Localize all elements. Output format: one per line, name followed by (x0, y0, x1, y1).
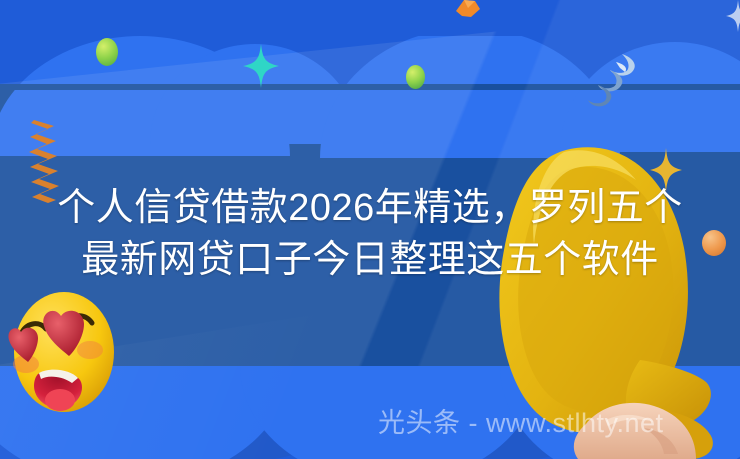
orange-confetti-flake-icon (455, 0, 481, 18)
banner-title: 个人信贷借款2026年精选，罗列五个 最新网贷口子今日整理这五个软件 (0, 182, 740, 286)
title-line-1: 个人信贷借款2026年精选，罗列五个 (0, 182, 740, 234)
hill-shape-2 (150, 44, 360, 144)
green-ball-small-icon (406, 65, 425, 89)
hill-shape-4 (560, 42, 740, 152)
title-line-2: 最新网贷口子今日整理这五个软件 (0, 234, 740, 286)
wave-light-1 (0, 366, 290, 459)
hill-shape-1 (0, 36, 290, 156)
top-band-strip (0, 0, 740, 36)
white-sparkle-icon (726, 0, 740, 32)
smiling-face-with-hearts-emoji-icon (8, 288, 120, 416)
green-ball-icon (96, 38, 118, 66)
wave-dark-1 (130, 366, 370, 459)
promo-banner: 个人信贷借款2026年精选，罗列五个 最新网贷口子今日整理这五个软件 光头条 -… (0, 0, 740, 459)
teal-sparkle-icon (243, 44, 279, 88)
blue-spiral-ribbon-icon (586, 52, 642, 138)
band-divider (0, 84, 740, 90)
top-color-band (0, 0, 740, 90)
hill-shape-3 (320, 28, 620, 158)
site-watermark: 光头条 - www.stlhty.net (378, 406, 664, 440)
